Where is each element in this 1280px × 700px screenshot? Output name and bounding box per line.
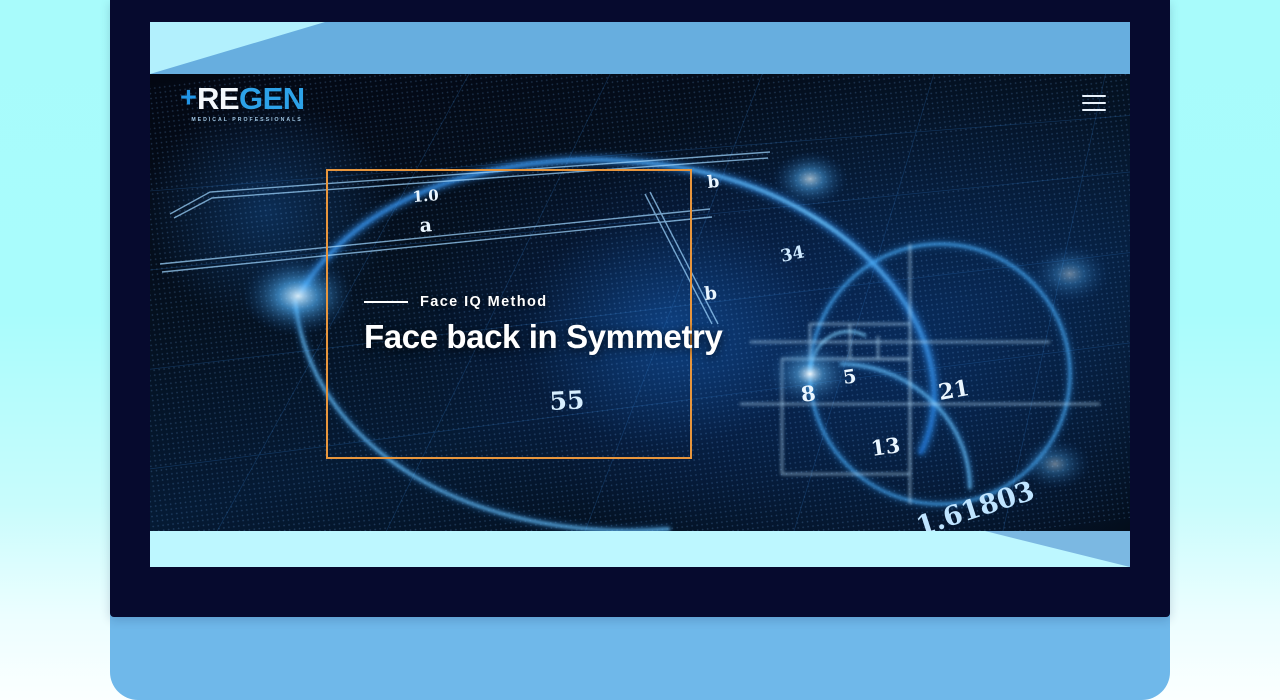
hero-headline: Face back in Symmetry (364, 318, 834, 356)
top-decorative-band (150, 22, 1130, 74)
hero-eyebrow-label: Face IQ Method (420, 294, 548, 310)
logo-tagline: MEDICAL PROFESSIONALS (180, 118, 305, 123)
hamburger-line-2 (1082, 102, 1106, 104)
svg-text:21: 21 (937, 375, 972, 406)
hamburger-line-1 (1082, 95, 1106, 97)
bottom-decorative-band (150, 531, 1130, 567)
logo-wordmark: + RE GEN (180, 83, 305, 114)
browser-viewport: 1.0 a b b 34 55 8 5 13 21 1.61803 + RE G… (150, 22, 1130, 567)
brand-logo[interactable]: + RE GEN MEDICAL PROFESSIONALS (180, 83, 305, 123)
svg-text:b: b (706, 172, 720, 193)
medical-plus-icon: + (180, 85, 196, 111)
hero-eyebrow-row: Face IQ Method (364, 294, 834, 310)
hamburger-line-3 (1082, 109, 1106, 111)
svg-text:13: 13 (869, 432, 901, 461)
hero-text-block: Face IQ Method Face back in Symmetry (364, 294, 834, 356)
logo-text-gen: GEN (239, 83, 305, 114)
svg-text:5: 5 (842, 365, 858, 389)
eyebrow-dash-decoration (364, 301, 408, 303)
logo-text-re: RE (197, 83, 239, 114)
svg-text:34: 34 (779, 242, 806, 267)
hamburger-menu-icon[interactable] (1080, 93, 1108, 113)
monitor-stand (110, 610, 1170, 700)
